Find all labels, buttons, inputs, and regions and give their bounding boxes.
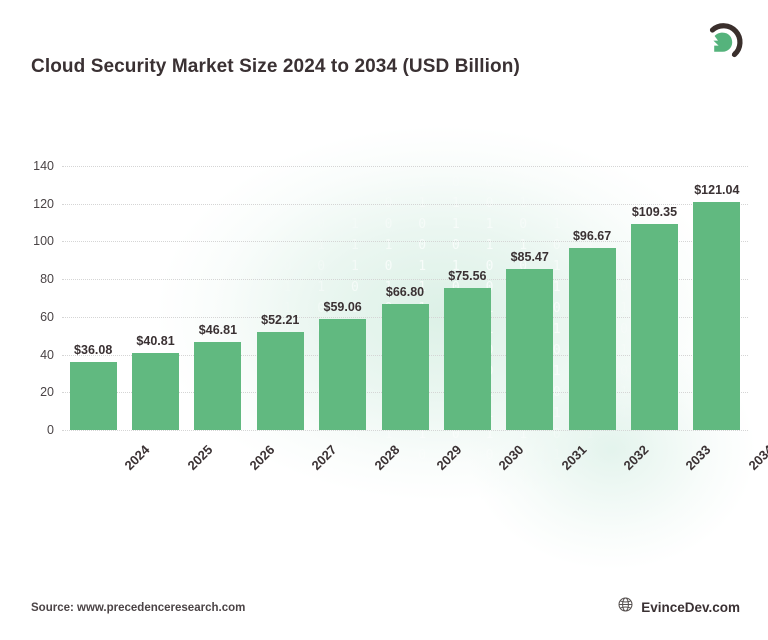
x-axis-tick-label: 2026 xyxy=(246,442,277,473)
evincedev-crescent-leaf-logo-icon xyxy=(700,20,744,64)
y-axis-tick-label: 120 xyxy=(14,197,54,211)
plot-area: 020406080100120140$36.082024$40.812025$4… xyxy=(62,166,748,430)
gridline xyxy=(62,166,748,167)
y-axis-tick-label: 80 xyxy=(14,272,54,286)
bar[interactable] xyxy=(194,342,241,430)
y-axis-tick-label: 40 xyxy=(14,348,54,362)
y-axis-tick-label: 60 xyxy=(14,310,54,324)
x-axis-tick-label: 2028 xyxy=(371,442,402,473)
bar-value-label: $75.56 xyxy=(448,269,486,283)
bar[interactable] xyxy=(132,353,179,430)
bar[interactable] xyxy=(382,304,429,430)
x-axis-tick-label: 2034 xyxy=(745,442,768,473)
y-axis-tick-label: 20 xyxy=(14,385,54,399)
bar-value-label: $52.21 xyxy=(261,313,299,327)
bar-value-label: $66.80 xyxy=(386,285,424,299)
bar[interactable] xyxy=(444,288,491,430)
bar[interactable] xyxy=(319,319,366,430)
brand-footer[interactable]: EvinceDev.com xyxy=(618,597,740,617)
bar[interactable] xyxy=(693,202,740,430)
bar[interactable] xyxy=(506,269,553,430)
bar-value-label: $40.81 xyxy=(136,334,174,348)
brand-label: EvinceDev.com xyxy=(641,600,740,615)
y-axis-tick-label: 100 xyxy=(14,234,54,248)
bar-value-label: $121.04 xyxy=(694,183,739,197)
bar-value-label: $109.35 xyxy=(632,205,677,219)
gridline xyxy=(62,430,748,431)
source-label: Source: www.precedenceresearch.com xyxy=(31,602,245,614)
chart-title: Cloud Security Market Size 2024 to 2034 … xyxy=(31,56,520,78)
x-axis-tick-label: 2033 xyxy=(683,442,714,473)
chart-canvas: 1 0 1 1 0 1 0 0 1 1 0 1 0 1 1 0 0 1 1 0 … xyxy=(0,0,768,640)
x-axis-tick-label: 2030 xyxy=(496,442,527,473)
bar[interactable] xyxy=(569,248,616,430)
x-axis-tick-label: 2031 xyxy=(558,442,589,473)
bar-value-label: $96.67 xyxy=(573,229,611,243)
x-axis-tick-label: 2027 xyxy=(309,442,340,473)
x-axis-tick-label: 2032 xyxy=(621,442,652,473)
globe-icon xyxy=(618,597,633,617)
bar[interactable] xyxy=(257,332,304,430)
bar[interactable] xyxy=(631,224,678,430)
bar[interactable] xyxy=(70,362,117,430)
y-axis-tick-label: 140 xyxy=(14,159,54,173)
x-axis-tick-label: 2025 xyxy=(184,442,215,473)
y-axis-tick-label: 0 xyxy=(14,423,54,437)
bar-value-label: $46.81 xyxy=(199,323,237,337)
bar-value-label: $59.06 xyxy=(324,300,362,314)
bar-value-label: $85.47 xyxy=(511,250,549,264)
bar-value-label: $36.08 xyxy=(74,343,112,357)
x-axis-tick-label: 2029 xyxy=(433,442,464,473)
x-axis-tick-label: 2024 xyxy=(122,442,153,473)
